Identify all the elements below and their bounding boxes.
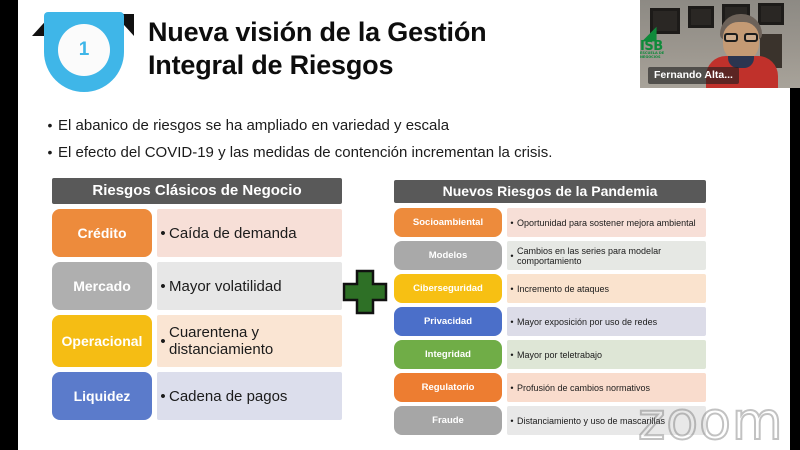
risk-description-text: Cuarentena y distanciamiento (169, 324, 338, 358)
bullet-marker-icon: • (507, 416, 517, 426)
risk-category-pill: Crédito (52, 209, 152, 257)
risk-description-text: Mayor por teletrabajo (517, 350, 602, 360)
risk-category-pill: Socioambiental (394, 208, 502, 237)
risk-description-text: Caída de demanda (169, 225, 297, 242)
participant-name-label: Fernando Alta... (648, 67, 739, 84)
risk-description-cell: •Cuarentena y distanciamiento (157, 315, 342, 367)
panel-header: Nuevos Riesgos de la Pandemia (394, 180, 706, 203)
risk-category-pill: Fraude (394, 406, 502, 435)
bullet-marker-icon: • (157, 388, 169, 405)
table-row: Mercado•Mayor volatilidad (52, 262, 342, 310)
title-line-2: Integral de Riesgos (148, 49, 618, 82)
page-title: Nueva visión de la Gestión Integral de R… (148, 16, 618, 82)
risk-description-cell: •Oportunidad para sostener mejora ambien… (507, 208, 706, 237)
risk-category-pill: Liquidez (52, 372, 152, 420)
risk-description-text: Distanciamiento y uso de mascarillas (517, 416, 665, 426)
slide-number-badge: 1 (24, 4, 142, 104)
bullet-marker-icon: • (157, 333, 169, 350)
list-item: • El efecto del COVID-19 y las medidas d… (42, 143, 682, 163)
risk-description-text: Mayor volatilidad (169, 278, 282, 295)
table-row: Liquidez•Cadena de pagos (52, 372, 342, 420)
zoom-screen-share-view: 1 Nueva visión de la Gestión Integral de… (0, 0, 800, 450)
risk-description-cell: •Caída de demanda (157, 209, 342, 257)
risk-category-pill: Ciberseguridad (394, 274, 502, 303)
risk-description-cell: •Incremento de ataques (507, 274, 706, 303)
risk-description-text: Oportunidad para sostener mejora ambient… (517, 218, 696, 228)
isb-logo: ◢ ISB ESCUELA DE NEGOCIOS (640, 28, 682, 62)
bullet-marker-icon: • (507, 284, 517, 294)
risk-description-cell: •Profusión de cambios normativos (507, 373, 706, 402)
risk-category-pill: Integridad (394, 340, 502, 369)
risk-description-text: Incremento de ataques (517, 284, 609, 294)
risk-description-text: Profusión de cambios normativos (517, 383, 650, 393)
risk-description-cell: •Cambios en las series para modelar comp… (507, 241, 706, 270)
table-row: Privacidad•Mayor exposición por uso de r… (394, 307, 706, 336)
risk-description-cell: •Distanciamiento y uso de mascarillas (507, 406, 706, 435)
bullet-marker-icon: • (507, 251, 517, 261)
risk-category-pill: Mercado (52, 262, 152, 310)
risk-description-text: Cambios en las series para modelar compo… (517, 246, 702, 266)
risk-description-cell: •Mayor volatilidad (157, 262, 342, 310)
bullet-marker-icon: • (42, 116, 58, 135)
list-item: • El abanico de riesgos se ha ampliado e… (42, 116, 682, 136)
pandemic-risks-panel: Nuevos Riesgos de la Pandemia Socioambie… (394, 180, 706, 439)
table-row: Modelos•Cambios en las series para model… (394, 241, 706, 270)
table-row: Regulatorio•Profusión de cambios normati… (394, 373, 706, 402)
participant-video-tile[interactable]: ◢ ISB ESCUELA DE NEGOCIOS Fernando Alta.… (640, 0, 800, 88)
risk-category-pill: Privacidad (394, 307, 502, 336)
green-plus-icon (341, 268, 389, 316)
table-row: Socioambiental•Oportunidad para sostener… (394, 208, 706, 237)
table-row: Ciberseguridad•Incremento de ataques (394, 274, 706, 303)
bullet-marker-icon: • (507, 317, 517, 327)
bullet-marker-icon: • (507, 350, 517, 360)
bullet-list: • El abanico de riesgos se ha ampliado e… (42, 116, 682, 171)
risk-description-cell: •Mayor exposición por uso de redes (507, 307, 706, 336)
eyeglasses-icon (723, 33, 759, 42)
risk-description-text: Mayor exposición por uso de redes (517, 317, 657, 327)
risk-category-pill: Regulatorio (394, 373, 502, 402)
title-line-1: Nueva visión de la Gestión (148, 16, 618, 49)
panel-header: Riesgos Clásicos de Negocio (52, 178, 342, 204)
bullet-marker-icon: • (157, 278, 169, 295)
risk-description-text: Cadena de pagos (169, 388, 287, 405)
bullet-marker-icon: • (507, 218, 517, 228)
risk-description-cell: •Cadena de pagos (157, 372, 342, 420)
shield-shape: 1 (44, 12, 124, 92)
table-row: Operacional•Cuarentena y distanciamiento (52, 315, 342, 367)
bullet-marker-icon: • (157, 225, 169, 242)
risk-category-pill: Modelos (394, 241, 502, 270)
bullet-marker-icon: • (507, 383, 517, 393)
bullet-marker-icon: • (42, 143, 58, 162)
logo-subtext: ESCUELA DE NEGOCIOS (640, 52, 682, 59)
table-row: Fraude•Distanciamiento y uso de mascaril… (394, 406, 706, 435)
table-row: Integridad•Mayor por teletrabajo (394, 340, 706, 369)
badge-number: 1 (58, 24, 110, 76)
bullet-text: El abanico de riesgos se ha ampliado en … (58, 116, 449, 136)
risk-description-cell: •Mayor por teletrabajo (507, 340, 706, 369)
risk-category-pill: Operacional (52, 315, 152, 367)
classic-risks-panel: Riesgos Clásicos de Negocio Crédito•Caíd… (52, 178, 342, 425)
table-row: Crédito•Caída de demanda (52, 209, 342, 257)
bullet-text: El efecto del COVID-19 y las medidas de … (58, 143, 552, 163)
